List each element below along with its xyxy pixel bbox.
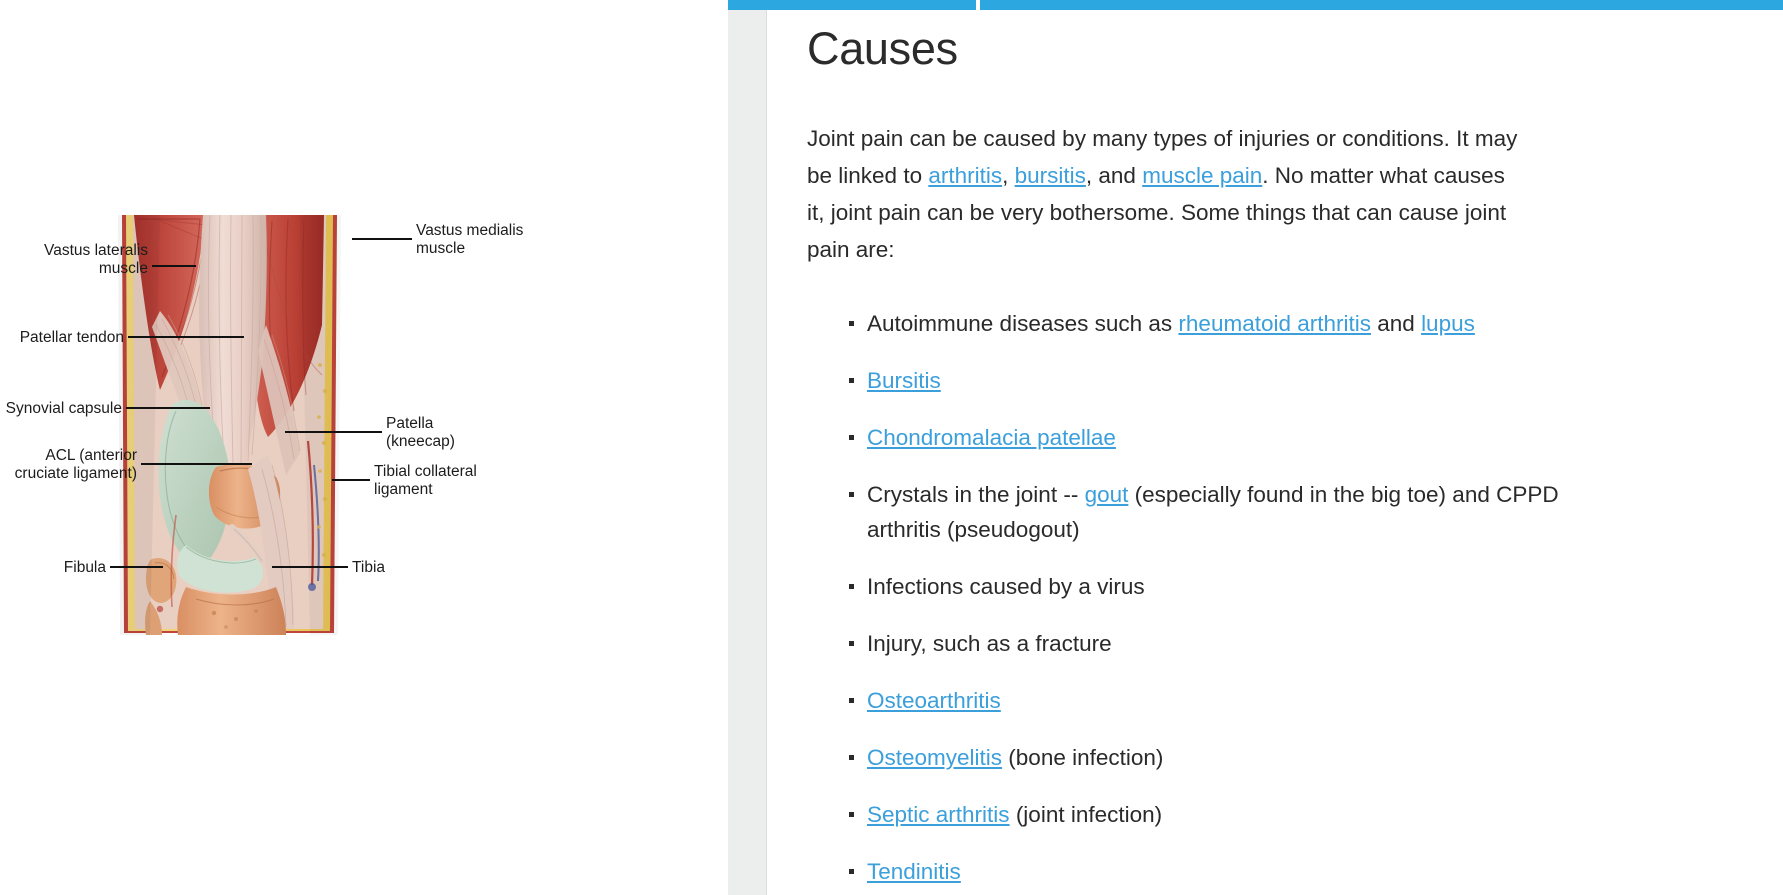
list-item: Tendinitis <box>849 854 1567 889</box>
list-item: Osteoarthritis <box>849 683 1567 718</box>
label-tibial-collateral-line2: ligament <box>374 481 433 498</box>
label-vastus-lateralis-line2: muscle <box>99 260 148 277</box>
list-item-link[interactable]: Osteoarthritis <box>867 688 1001 713</box>
tab-strip-segment-right[interactable] <box>980 0 1783 10</box>
list-item-link[interactable]: Tendinitis <box>867 859 961 884</box>
list-item: Chondromalacia patellae <box>849 420 1567 455</box>
list-item-text: Crystals in the joint -- <box>867 482 1085 507</box>
list-item-link[interactable]: Septic arthritis <box>867 802 1010 827</box>
article-body: Causes Joint pain can be caused by many … <box>767 10 1783 895</box>
list-item: Bursitis <box>849 363 1567 398</box>
list-item-text: Injury, such as a fracture <box>867 631 1112 656</box>
intro-text-3: , and <box>1086 163 1142 188</box>
list-item-text: (joint infection) <box>1010 802 1163 827</box>
link-muscle-pain[interactable]: muscle pain <box>1142 163 1262 188</box>
list-item-text: Autoimmune diseases such as <box>867 311 1178 336</box>
label-acl-line2: cruciate ligament) <box>15 465 137 482</box>
list-item: Injury, such as a fracture <box>849 626 1567 661</box>
label-tibia: Tibia <box>352 559 385 576</box>
page-title: Causes <box>807 22 1739 76</box>
label-vastus-medialis-line2: muscle <box>416 240 465 257</box>
list-item-link[interactable]: gout <box>1085 482 1129 507</box>
label-patellar-tendon: Patellar tendon <box>20 329 124 346</box>
label-acl-line1: ACL (anterior <box>45 447 137 464</box>
list-item-link[interactable]: rheumatoid arthritis <box>1178 311 1371 336</box>
list-item-text: Infections caused by a virus <box>867 574 1145 599</box>
label-patella-line1: Patella <box>386 415 434 432</box>
knee-joint-anatomy-diagram: Vastus lateralis muscle Vastus medialis … <box>0 215 620 655</box>
list-item: Crystals in the joint -- gout (especiall… <box>849 477 1567 547</box>
list-item-text: and <box>1371 311 1421 336</box>
label-fibula: Fibula <box>64 559 107 576</box>
intro-text-2: , <box>1002 163 1015 188</box>
list-item: Septic arthritis (joint infection) <box>849 797 1567 832</box>
list-item-link[interactable]: Osteomyelitis <box>867 745 1002 770</box>
list-item-link[interactable]: Bursitis <box>867 368 941 393</box>
label-vastus-medialis-line1: Vastus medialis <box>416 222 524 239</box>
causes-list: Autoimmune diseases such as rheumatoid a… <box>807 306 1567 895</box>
label-vastus-lateralis-line1: Vastus lateralis <box>44 242 148 259</box>
top-tab-strip <box>728 0 1783 10</box>
link-bursitis[interactable]: bursitis <box>1015 163 1086 188</box>
list-item-link[interactable]: Chondromalacia patellae <box>867 425 1116 450</box>
link-arthritis[interactable]: arthritis <box>928 163 1002 188</box>
list-item: Infections caused by a virus <box>849 569 1567 604</box>
intro-paragraph: Joint pain can be caused by many types o… <box>807 120 1525 268</box>
list-item-link[interactable]: lupus <box>1421 311 1475 336</box>
list-item-text: (bone infection) <box>1002 745 1163 770</box>
label-synovial-capsule: Synovial capsule <box>6 400 122 417</box>
label-tibial-collateral-line1: Tibial collateral <box>374 463 477 480</box>
label-patella-line2: (kneecap) <box>386 433 455 450</box>
left-gutter-rail <box>728 10 766 895</box>
page-root: Vastus lateralis muscle Vastus medialis … <box>0 0 1783 895</box>
tab-strip-segment-left[interactable] <box>728 0 976 10</box>
knee-illustration-body <box>118 215 341 635</box>
list-item: Autoimmune diseases such as rheumatoid a… <box>849 306 1567 341</box>
content-pane: Causes Joint pain can be caused by many … <box>728 0 1783 895</box>
list-item: Osteomyelitis (bone infection) <box>849 740 1567 775</box>
illustration-panel: Vastus lateralis muscle Vastus medialis … <box>0 0 728 895</box>
